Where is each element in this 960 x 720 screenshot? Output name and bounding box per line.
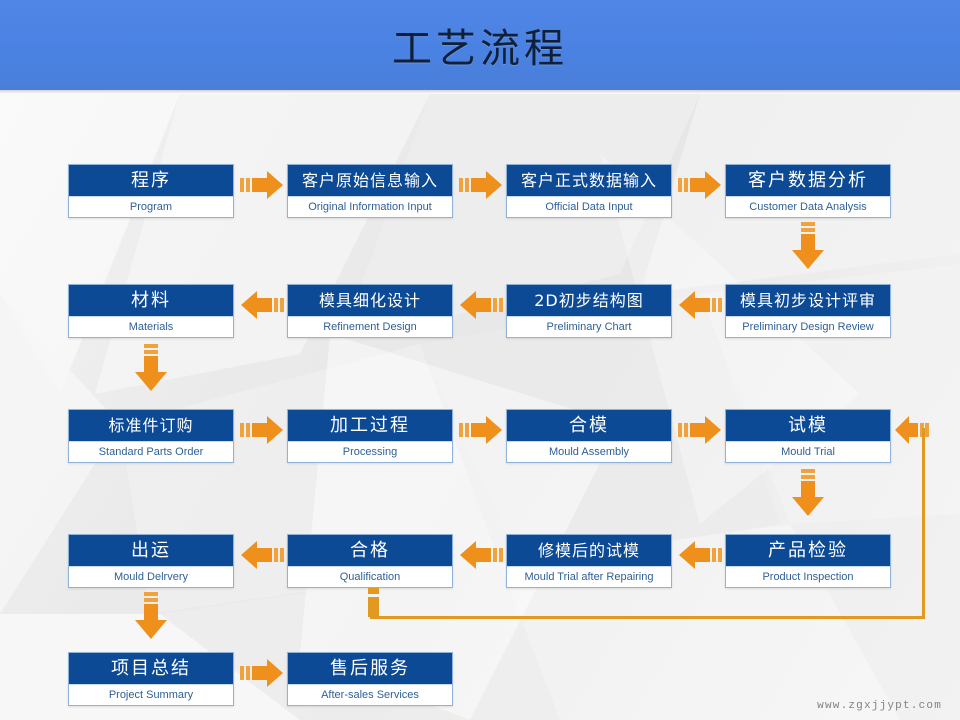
node-title-cn: 模具细化设计 [288,285,452,316]
arrow-right-icon [459,170,503,200]
feedback-loop-line [922,428,925,618]
node-standard-parts-order[interactable]: 标准件订购 Standard Parts Order [68,409,234,463]
node-title-en: Standard Parts Order [69,441,233,462]
node-title-en: Mould Delrvery [69,566,233,587]
node-title-en: Project Summary [69,684,233,705]
arrow-right-icon [240,170,284,200]
page-title: 工艺流程 [0,0,960,90]
node-preliminary-chart[interactable]: 2D初步结构图 Preliminary Chart [506,284,672,338]
node-title-cn: 客户原始信息输入 [288,165,452,196]
node-mould-delivery[interactable]: 出运 Mould Delrvery [68,534,234,588]
node-title-en: Preliminary Chart [507,316,671,337]
node-refinement-design[interactable]: 模具细化设计 Refinement Design [287,284,453,338]
node-original-information-input[interactable]: 客户原始信息输入 Original Information Input [287,164,453,218]
arrow-left-icon [678,290,722,320]
arrow-left-icon [240,540,284,570]
node-title-cn: 产品检验 [726,535,890,566]
node-title-cn: 修模后的试模 [507,535,671,566]
node-project-summary[interactable]: 项目总结 Project Summary [68,652,234,706]
node-processing[interactable]: 加工过程 Processing [287,409,453,463]
arrow-left-icon [678,540,722,570]
node-title-en: Refinement Design [288,316,452,337]
node-title-en: Mould Trial [726,441,890,462]
watermark-text: www.zgxjjypt.com [817,700,942,712]
node-title-en: After-sales Services [288,684,452,705]
arrow-down-icon [791,469,825,517]
node-title-en: Qualification [288,566,452,587]
arrow-right-icon [240,415,284,445]
feedback-loop-stub [368,588,379,594]
node-title-cn: 材料 [69,285,233,316]
node-mould-trial-after-repairing[interactable]: 修模后的试模 Mould Trial after Repairing [506,534,672,588]
node-title-en: Materials [69,316,233,337]
arrow-down-icon [134,344,168,392]
node-title-cn: 合模 [507,410,671,441]
arrow-left-icon [459,540,503,570]
node-customer-data-analysis[interactable]: 客户数据分析 Customer Data Analysis [725,164,891,218]
node-title-en: Program [69,196,233,217]
node-title-cn: 加工过程 [288,410,452,441]
arrow-left-icon [459,290,503,320]
node-program[interactable]: 程序 Program [68,164,234,218]
node-title-cn: 2D初步结构图 [507,285,671,316]
arrow-right-icon [240,658,284,688]
node-title-cn: 模具初步设计评审 [726,285,890,316]
node-title-cn: 项目总结 [69,653,233,684]
arrow-left-icon [240,290,284,320]
node-title-en: Preliminary Design Review [726,316,890,337]
node-title-en: Mould Assembly [507,441,671,462]
arrow-right-icon [459,415,503,445]
node-title-en: Processing [288,441,452,462]
feedback-loop-stub [368,597,379,617]
node-title-cn: 客户正式数据输入 [507,165,671,196]
node-title-cn: 标准件订购 [69,410,233,441]
node-title-cn: 合格 [288,535,452,566]
node-title-cn: 程序 [69,165,233,196]
node-title-en: Official Data Input [507,196,671,217]
node-preliminary-design-review[interactable]: 模具初步设计评审 Preliminary Design Review [725,284,891,338]
node-title-cn: 出运 [69,535,233,566]
node-title-cn: 试模 [726,410,890,441]
node-product-inspection[interactable]: 产品检验 Product Inspection [725,534,891,588]
node-title-en: Mould Trial after Repairing [507,566,671,587]
node-qualification[interactable]: 合格 Qualification [287,534,453,588]
node-title-cn: 客户数据分析 [726,165,890,196]
node-after-sales-services[interactable]: 售后服务 After-sales Services [287,652,453,706]
node-title-en: Product Inspection [726,566,890,587]
arrow-right-icon [678,170,722,200]
node-mould-trial[interactable]: 试模 Mould Trial [725,409,891,463]
node-materials[interactable]: 材料 Materials [68,284,234,338]
arrow-down-icon [791,222,825,270]
node-official-data-input[interactable]: 客户正式数据输入 Official Data Input [506,164,672,218]
arrow-down-icon [134,592,168,640]
diagram-canvas: 程序 Program 客户原始信息输入 Original Information… [0,94,960,720]
node-mould-assembly[interactable]: 合模 Mould Assembly [506,409,672,463]
node-title-en: Original Information Input [288,196,452,217]
arrow-right-icon [678,415,722,445]
node-title-en: Customer Data Analysis [726,196,890,217]
slide: 工艺流程 程序 [0,0,960,720]
feedback-loop-line [370,616,925,619]
node-title-cn: 售后服务 [288,653,452,684]
